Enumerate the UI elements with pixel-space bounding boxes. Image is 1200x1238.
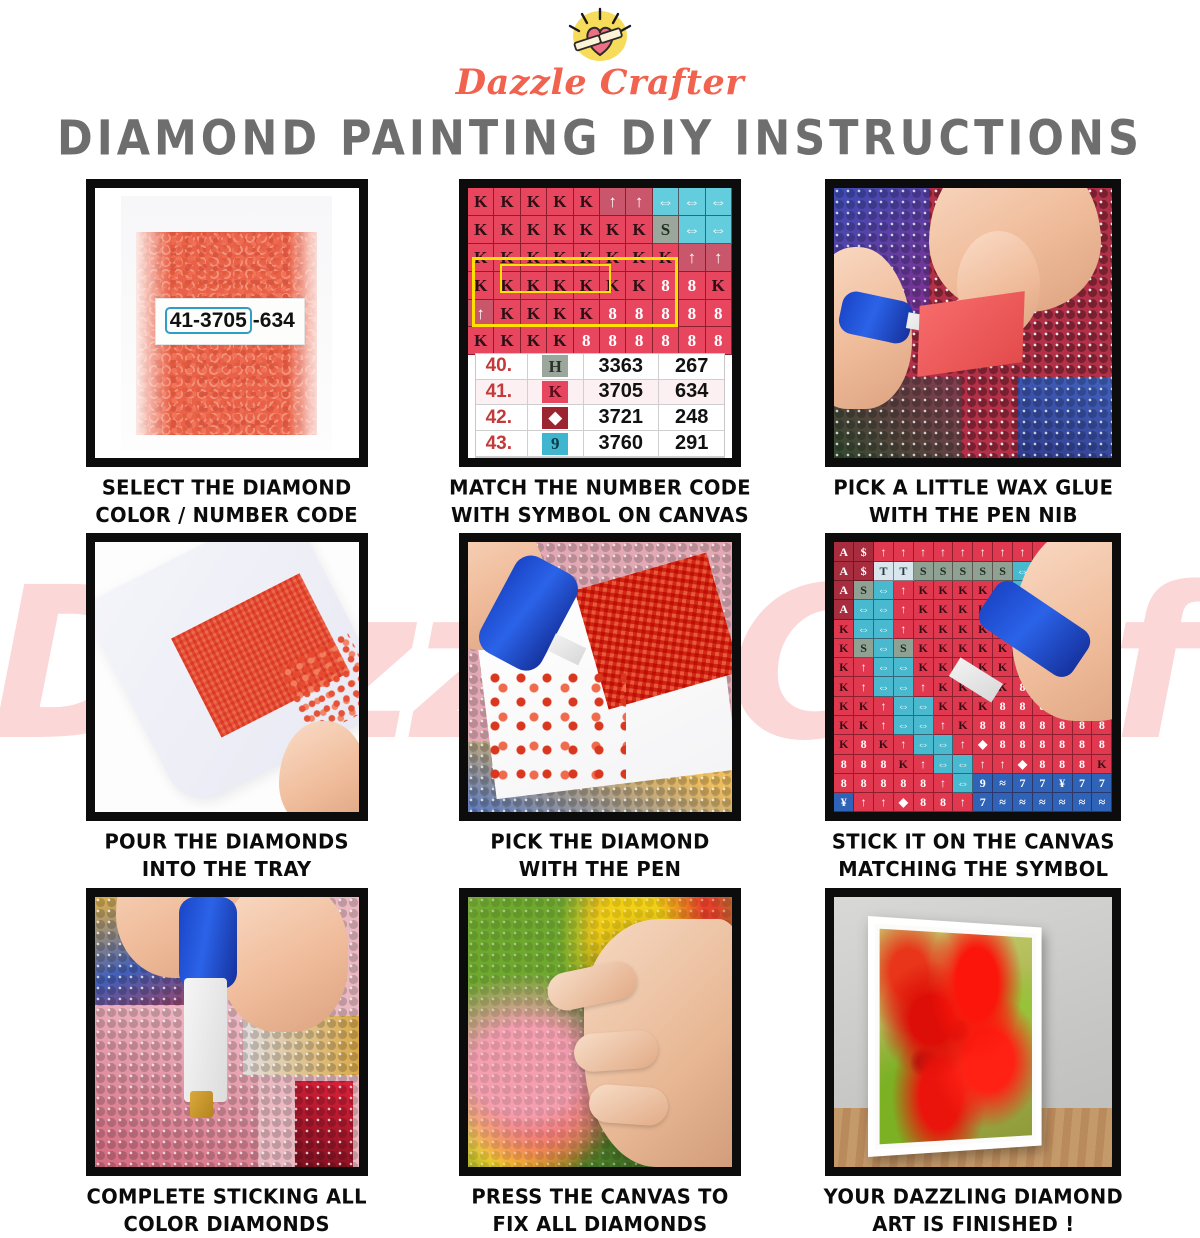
step-1-caption: SELECT THE DIAMOND COLOR / NUMBER CODE bbox=[95, 474, 358, 529]
step-1-caption-line2: COLOR / NUMBER CODE bbox=[95, 502, 358, 529]
symbol-cell: K bbox=[834, 658, 854, 677]
symbol-cell: ≈ bbox=[1033, 793, 1053, 812]
chart-cell: ⇔ bbox=[706, 216, 732, 244]
bag-code-suffix: -634 bbox=[253, 309, 295, 332]
step-card-8: PRESS THE CANVAS TO FIX ALL DIAMONDS bbox=[431, 888, 768, 1236]
step-1-image: 41-3705-634 bbox=[86, 179, 368, 467]
symbol-cell: K bbox=[834, 639, 854, 658]
symbol-cell: 8 bbox=[1013, 697, 1033, 716]
step-3-image bbox=[825, 179, 1121, 467]
symbol-cell: ↑ bbox=[1013, 542, 1033, 561]
symbol-cell: ↑ bbox=[934, 716, 954, 735]
symbol-cell: ⇔ bbox=[854, 600, 874, 619]
symbol-cell: ↑ bbox=[914, 755, 934, 774]
symbol-cell: ↑ bbox=[914, 542, 934, 561]
symbol-cell: 8 bbox=[834, 774, 854, 793]
symbol-cell: ◆ bbox=[1013, 755, 1033, 774]
symbol-cell: S bbox=[993, 562, 1013, 581]
chart-cell: K bbox=[468, 216, 494, 244]
symbol-cell: ⇔ bbox=[894, 697, 914, 716]
step-3-caption: PICK A LITTLE WAX GLUE WITH THE PEN NIB bbox=[833, 474, 1113, 529]
symbol-cell: ◆ bbox=[894, 793, 914, 812]
symbol-cell: ≈ bbox=[1013, 793, 1033, 812]
symbol-cell: ⇔ bbox=[874, 600, 894, 619]
symbol-cell: ≈ bbox=[1053, 793, 1073, 812]
symbol-cell: K bbox=[834, 697, 854, 716]
brand-logo bbox=[558, 6, 642, 64]
steps-grid: 41-3705-634 SELECT THE DIAMOND COLOR / N… bbox=[58, 179, 1142, 1236]
step-1-caption-line1: SELECT THE DIAMOND bbox=[95, 474, 358, 501]
step-7-caption: COMPLETE STICKING ALL COLOR DIAMONDS bbox=[86, 1183, 366, 1238]
chart-cell: ↑ bbox=[626, 188, 652, 216]
symbol-cell: ⇔ bbox=[953, 774, 973, 793]
symbol-cell: 8 bbox=[1033, 735, 1053, 754]
legend-symbol: 9 bbox=[528, 431, 584, 456]
step-card-3: PICK A LITTLE WAX GLUE WITH THE PEN NIB bbox=[805, 179, 1142, 527]
symbol-cell: K bbox=[953, 581, 973, 600]
chart-cell: K bbox=[574, 216, 600, 244]
step-5-image bbox=[459, 533, 741, 821]
page-title: DIAMOND PAINTING DIY INSTRUCTIONS bbox=[0, 111, 1200, 167]
symbol-cell: K bbox=[934, 581, 954, 600]
symbol-cell: 8 bbox=[914, 793, 934, 812]
legend-row: 43.93760291 bbox=[476, 431, 725, 457]
symbol-cell: ≈ bbox=[993, 793, 1013, 812]
chart-cell: 8 bbox=[600, 327, 626, 355]
symbol-cell: K bbox=[894, 755, 914, 774]
bag-code: 41-3705-634 bbox=[165, 309, 295, 333]
symbol-cell: 7 bbox=[1092, 774, 1112, 793]
chart-cell: 8 bbox=[679, 272, 705, 300]
symbol-cell: S bbox=[894, 639, 914, 658]
symbol-cell: ↑ bbox=[953, 793, 973, 812]
symbol-cell: ≈ bbox=[993, 774, 1013, 793]
symbol-cell: ↑ bbox=[894, 735, 914, 754]
symbol-cell: 8 bbox=[1053, 735, 1073, 754]
chart-cell: K bbox=[547, 216, 573, 244]
step-4-caption-line1: POUR THE DIAMONDS bbox=[104, 829, 348, 856]
step-5-caption-line2: WITH THE PEN bbox=[490, 856, 709, 883]
step-card-6: A$↑↑↑↑↑↑↑↑↑↑↑KA$TTSSSSS⇔⇔SKKAS⇔↑KKKK↑⇔⇔K… bbox=[805, 533, 1142, 881]
symbol-cell: 8 bbox=[874, 755, 894, 774]
symbol-cell: ↑ bbox=[894, 600, 914, 619]
legend-symbol: ◆ bbox=[528, 405, 584, 430]
symbol-cell: ↑ bbox=[934, 774, 954, 793]
symbol-cell: ↑ bbox=[854, 658, 874, 677]
step-4-caption-line2: INTO THE TRAY bbox=[104, 856, 348, 883]
step-6-caption-line1: STICK IT ON THE CANVAS bbox=[832, 829, 1115, 856]
symbol-cell: ⇔ bbox=[874, 620, 894, 639]
symbol-cell: ↑ bbox=[953, 735, 973, 754]
step-6-caption: STICK IT ON THE CANVAS MATCHING THE SYMB… bbox=[832, 829, 1115, 884]
legend-code: 3363 bbox=[584, 354, 659, 379]
symbol-cell: T bbox=[894, 562, 914, 581]
symbol-cell: 8 bbox=[1033, 716, 1053, 735]
symbol-cell: K bbox=[914, 658, 934, 677]
symbol-cell: K bbox=[914, 600, 934, 619]
symbol-cell: ◆ bbox=[973, 735, 993, 754]
chart-cell: 8 bbox=[706, 327, 732, 355]
symbol-cell: ≈ bbox=[1073, 793, 1093, 812]
symbol-cell: A bbox=[834, 562, 854, 581]
symbol-cell: 7 bbox=[1013, 774, 1033, 793]
chart-cell: 8 bbox=[679, 300, 705, 328]
symbol-cell: 8 bbox=[1033, 755, 1053, 774]
step-2-image: KKKKK↑↑⇔⇔⇔KKKKKKKS⇔⇔KKKKKKKK↑↑KKKKKKK88K… bbox=[459, 179, 741, 467]
step-6-caption-line2: MATCHING THE SYMBOL bbox=[832, 856, 1115, 883]
symbol-cell: ⇔ bbox=[894, 658, 914, 677]
symbol-cell: K bbox=[953, 639, 973, 658]
chart-cell: S bbox=[653, 216, 679, 244]
poppy-painting bbox=[879, 929, 1032, 1144]
symbol-cell: 8 bbox=[1073, 755, 1093, 774]
chart-cell: K bbox=[494, 327, 520, 355]
chart-cell: 8 bbox=[574, 327, 600, 355]
chart-cell: K bbox=[494, 216, 520, 244]
symbol-cell: 8 bbox=[914, 774, 934, 793]
chart-cell: 8 bbox=[626, 327, 652, 355]
legend-symbol: H bbox=[528, 354, 584, 379]
symbol-cell: 8 bbox=[1092, 735, 1112, 754]
step-2-caption-line2: WITH SYMBOL ON CANVAS bbox=[449, 502, 751, 529]
chart-cell: ↑ bbox=[600, 188, 626, 216]
symbol-cell: 8 bbox=[973, 716, 993, 735]
bag-label: 41-3705-634 bbox=[155, 298, 305, 346]
step-7-caption-line2: COLOR DIAMONDS bbox=[86, 1211, 366, 1238]
symbol-cell: S bbox=[914, 562, 934, 581]
symbol-cell: ↑ bbox=[874, 793, 894, 812]
chart-cell: 8 bbox=[653, 327, 679, 355]
symbol-cell: 8 bbox=[854, 774, 874, 793]
symbol-cell: K bbox=[953, 716, 973, 735]
symbol-cell: K bbox=[854, 697, 874, 716]
symbol-cell: A bbox=[834, 600, 854, 619]
symbol-cell: K bbox=[874, 735, 894, 754]
legend-number: 42. bbox=[476, 405, 528, 430]
symbol-cell: ↑ bbox=[993, 542, 1013, 561]
legend-count: 634 bbox=[659, 380, 724, 405]
symbol-cell: K bbox=[934, 697, 954, 716]
step-5-caption-line1: PICK THE DIAMOND bbox=[490, 829, 709, 856]
symbol-cell: K bbox=[934, 677, 954, 696]
legend-code: 3760 bbox=[584, 431, 659, 456]
legend-code: 3721 bbox=[584, 405, 659, 430]
loose-diamonds bbox=[489, 672, 626, 780]
step-8-caption-line1: PRESS THE CANVAS TO bbox=[471, 1183, 728, 1210]
step-card-4: POUR THE DIAMONDS INTO THE TRAY bbox=[58, 533, 395, 881]
symbol-cell: ⇔ bbox=[894, 716, 914, 735]
chart-cell: 8 bbox=[679, 327, 705, 355]
symbol-cell: ⇔ bbox=[894, 677, 914, 696]
symbol-cell: ⇔ bbox=[934, 755, 954, 774]
symbol-cell: K bbox=[854, 716, 874, 735]
chart-cell: K bbox=[521, 327, 547, 355]
symbol-cell: ↑ bbox=[953, 542, 973, 561]
legend-highlight-box bbox=[472, 257, 678, 327]
step-card-7: COMPLETE STICKING ALL COLOR DIAMONDS bbox=[58, 888, 395, 1236]
symbol-cell: ↑ bbox=[894, 581, 914, 600]
symbol-cell: ⇔ bbox=[953, 755, 973, 774]
symbol-cell: T bbox=[874, 562, 894, 581]
chart-cell: K bbox=[521, 188, 547, 216]
chart-cell: ⇔ bbox=[653, 188, 679, 216]
chart-cell: ⇔ bbox=[679, 188, 705, 216]
chart-cell: K bbox=[626, 216, 652, 244]
step-8-caption-line2: FIX ALL DIAMONDS bbox=[471, 1211, 728, 1238]
step-2-caption-line1: MATCH THE NUMBER CODE bbox=[449, 474, 751, 501]
symbol-cell: S bbox=[854, 639, 874, 658]
thumb bbox=[221, 888, 348, 1032]
page-header: Dazzle Crafter DIAMOND PAINTING DIY INST… bbox=[0, 0, 1200, 161]
step-6-image: A$↑↑↑↑↑↑↑↑↑↑↑KA$TTSSSSS⇔⇔SKKAS⇔↑KKKK↑⇔⇔K… bbox=[825, 533, 1121, 821]
symbol-cell: ↑ bbox=[973, 542, 993, 561]
symbol-cell: 8 bbox=[1013, 735, 1033, 754]
step-3-caption-line1: PICK A LITTLE WAX GLUE bbox=[833, 474, 1113, 501]
chart-cell: ⇔ bbox=[706, 188, 732, 216]
symbol-cell: ↑ bbox=[894, 542, 914, 561]
symbol-cell: K bbox=[934, 600, 954, 619]
symbol-cell: ↑ bbox=[914, 677, 934, 696]
step-8-caption: PRESS THE CANVAS TO FIX ALL DIAMONDS bbox=[471, 1183, 728, 1238]
symbol-cell: ≈ bbox=[1092, 793, 1112, 812]
symbol-cell: K bbox=[834, 716, 854, 735]
symbol-cell: ⇔ bbox=[874, 639, 894, 658]
step-4-caption: POUR THE DIAMONDS INTO THE TRAY bbox=[104, 829, 348, 884]
legend-row: 40.H3363267 bbox=[476, 354, 725, 380]
step-7-caption-line1: COMPLETE STICKING ALL bbox=[86, 1183, 366, 1210]
brand-name: Dazzle Crafter bbox=[0, 62, 1200, 103]
step-card-2: KKKKK↑↑⇔⇔⇔KKKKKKKS⇔⇔KKKKKKKK↑↑KKKKKKK88K… bbox=[431, 179, 768, 527]
chart-cell: K bbox=[574, 188, 600, 216]
symbol-cell: 8 bbox=[934, 793, 954, 812]
symbol-cell: K bbox=[934, 639, 954, 658]
symbol-cell: ⇔ bbox=[914, 735, 934, 754]
step-9-image bbox=[825, 888, 1121, 1176]
symbol-cell: K bbox=[953, 697, 973, 716]
chart-cell: K bbox=[547, 327, 573, 355]
symbol-cell: 8 bbox=[1073, 735, 1093, 754]
symbol-cell: K bbox=[834, 735, 854, 754]
legend-symbol: K bbox=[528, 380, 584, 405]
symbol-cell: K bbox=[973, 639, 993, 658]
chart-cell: K bbox=[600, 216, 626, 244]
symbol-cell: ⇔ bbox=[874, 581, 894, 600]
step-7-image bbox=[86, 888, 368, 1176]
legend-count: 291 bbox=[659, 431, 724, 456]
symbol-cell: K bbox=[914, 581, 934, 600]
symbol-cell: K bbox=[953, 620, 973, 639]
legend-count: 267 bbox=[659, 354, 724, 379]
symbol-cell: 8 bbox=[894, 774, 914, 793]
symbol-cell: 8 bbox=[993, 697, 1013, 716]
step-card-1: 41-3705-634 SELECT THE DIAMOND COLOR / N… bbox=[58, 179, 395, 527]
legend-number: 41. bbox=[476, 380, 528, 405]
symbol-cell: 8 bbox=[854, 755, 874, 774]
symbol-cell: K bbox=[834, 620, 854, 639]
symbol-cell: S bbox=[934, 562, 954, 581]
hand-holding-tray bbox=[279, 721, 367, 822]
symbol-cell: ↑ bbox=[993, 755, 1013, 774]
legend-count: 248 bbox=[659, 405, 724, 430]
chart-cell: ⇔ bbox=[679, 216, 705, 244]
step-4-image bbox=[86, 533, 368, 821]
symbol-cell: K bbox=[834, 677, 854, 696]
symbol-cell: ⇔ bbox=[914, 716, 934, 735]
symbol-cell: K bbox=[914, 620, 934, 639]
symbol-cell: 9 bbox=[973, 774, 993, 793]
chart-cell: ↑ bbox=[706, 244, 732, 272]
symbol-cell: ↑ bbox=[854, 677, 874, 696]
color-code-legend: 40.H336326741.K370563442.◆372124843.9376… bbox=[475, 353, 726, 458]
legend-code: 3705 bbox=[584, 380, 659, 405]
bag-code-boxed: 41-3705 bbox=[165, 307, 252, 334]
symbol-cell: $ bbox=[854, 542, 874, 561]
symbol-cell: ⇔ bbox=[934, 735, 954, 754]
legend-row: 42.◆3721248 bbox=[476, 405, 725, 431]
legend-number: 43. bbox=[476, 431, 528, 456]
symbol-cell: ↑ bbox=[874, 697, 894, 716]
chart-cell: 8 bbox=[706, 300, 732, 328]
symbol-cell: 7 bbox=[973, 793, 993, 812]
chart-cell: K bbox=[468, 188, 494, 216]
step-card-5: PICK THE DIAMOND WITH THE PEN bbox=[431, 533, 768, 881]
symbol-cell: ⇔ bbox=[874, 658, 894, 677]
step-8-image bbox=[459, 888, 741, 1176]
step-3-caption-line2: WITH THE PEN NIB bbox=[833, 502, 1113, 529]
symbol-cell: K bbox=[953, 600, 973, 619]
symbol-cell: ¥ bbox=[1053, 774, 1073, 793]
step-9-caption-line1: YOUR DAZZLING DIAMOND bbox=[824, 1183, 1123, 1210]
symbol-cell: $ bbox=[854, 562, 874, 581]
pen-barrel bbox=[184, 978, 226, 1102]
symbol-cell: A bbox=[834, 581, 854, 600]
symbol-cell: 8 bbox=[1053, 755, 1073, 774]
symbol-cell: 8 bbox=[1013, 716, 1033, 735]
symbol-cell: ↑ bbox=[973, 755, 993, 774]
diamond-bag: 41-3705-634 bbox=[121, 196, 332, 450]
legend-number: 40. bbox=[476, 354, 528, 379]
symbol-cell: S bbox=[953, 562, 973, 581]
symbol-cell: ↑ bbox=[854, 793, 874, 812]
symbol-cell: S bbox=[854, 581, 874, 600]
chart-cell: K bbox=[494, 188, 520, 216]
ring-finger bbox=[588, 1083, 670, 1126]
symbol-cell: ⇔ bbox=[914, 697, 934, 716]
step-9-caption: YOUR DAZZLING DIAMOND ART IS FINISHED ! bbox=[824, 1183, 1123, 1238]
symbol-cell: 8 bbox=[874, 774, 894, 793]
symbol-cell: 8 bbox=[834, 755, 854, 774]
symbol-cell: K bbox=[993, 658, 1013, 677]
chart-cell: K bbox=[521, 216, 547, 244]
symbol-cell: K bbox=[934, 620, 954, 639]
symbol-cell: S bbox=[973, 562, 993, 581]
symbol-cell: 7 bbox=[1073, 774, 1093, 793]
symbol-cell: 8 bbox=[854, 735, 874, 754]
symbol-cell: ↑ bbox=[894, 620, 914, 639]
symbol-cell: ⇔ bbox=[854, 620, 874, 639]
legend-row: 41.K3705634 bbox=[476, 380, 725, 406]
symbol-cell: 8 bbox=[993, 735, 1013, 754]
symbol-cell: ↑ bbox=[934, 542, 954, 561]
symbol-cell: A bbox=[834, 542, 854, 561]
heart-with-pen-sunburst-icon bbox=[558, 6, 642, 64]
chart-cell: ↑ bbox=[679, 244, 705, 272]
chart-cell: K bbox=[706, 272, 732, 300]
diamond-pen bbox=[179, 897, 237, 989]
step-9-caption-line2: ART IS FINISHED ! bbox=[824, 1211, 1123, 1238]
step-2-caption: MATCH THE NUMBER CODE WITH SYMBOL ON CAN… bbox=[449, 474, 751, 529]
symbol-cell: 8 bbox=[993, 716, 1013, 735]
middle-finger bbox=[572, 1029, 659, 1073]
step-5-caption: PICK THE DIAMOND WITH THE PEN bbox=[490, 829, 709, 884]
chart-cell: K bbox=[547, 188, 573, 216]
symbol-cell: ↑ bbox=[874, 542, 894, 561]
symbol-cell: ¥ bbox=[834, 793, 854, 812]
chart-cell: K bbox=[468, 327, 494, 355]
wax-glue-square bbox=[917, 291, 1024, 377]
symbol-cell: ⇔ bbox=[874, 677, 894, 696]
symbol-cell: K bbox=[1092, 755, 1112, 774]
symbol-cell: ↑ bbox=[874, 716, 894, 735]
symbol-cell: 7 bbox=[1033, 774, 1053, 793]
step-card-9: YOUR DAZZLING DIAMOND ART IS FINISHED ! bbox=[805, 888, 1142, 1236]
framed-artwork bbox=[868, 916, 1042, 1157]
pen-nib-metal bbox=[190, 1091, 214, 1118]
symbol-cell: K bbox=[914, 639, 934, 658]
